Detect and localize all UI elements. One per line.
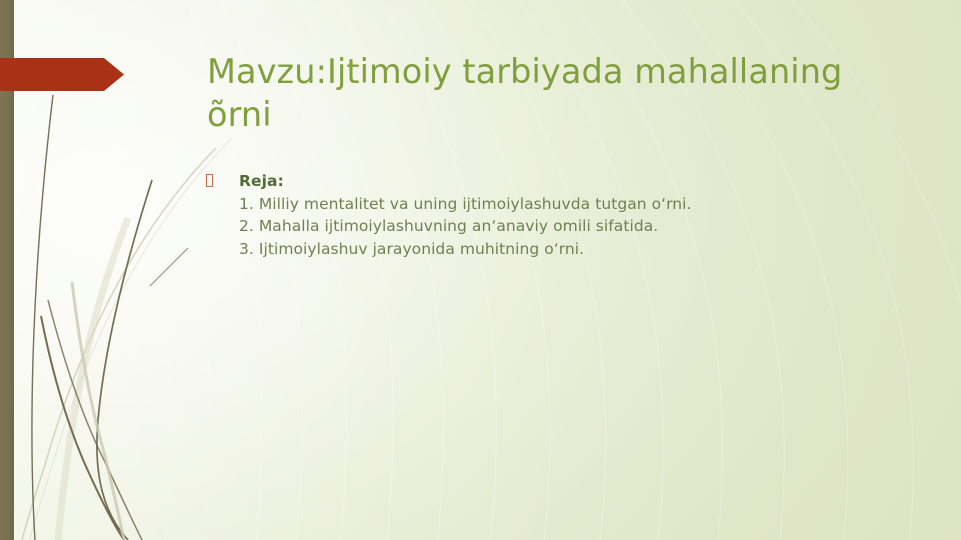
red-arrow-banner (0, 58, 125, 91)
tofu-box-icon (206, 174, 213, 187)
red-arrow-shape (0, 58, 125, 91)
bullet-content: Reja: 1. Milliy mentalitet va uning ijti… (239, 170, 865, 260)
slide-canvas: Mavzu:Ijtimoiy tarbiyada mahallaning õrn… (0, 0, 961, 540)
slide-body: Reja: 1. Milliy mentalitet va uning ijti… (205, 170, 865, 260)
reja-line-3: 3. Ijtimoiylashuv jarayonida muhitning o… (239, 238, 865, 261)
curve-pale-long (22, 148, 216, 540)
reja-line-2: 2. Mahalla ijtimoiylashuvning an‘anaviy … (239, 215, 865, 238)
reja-line-1: 1. Milliy mentalitet va uning ijtimoiyla… (239, 193, 865, 216)
curve-short-accent (150, 248, 188, 286)
curve-pale-stalk (72, 282, 124, 540)
reja-heading: Reja: (239, 170, 865, 193)
curve-pale-long-2 (30, 138, 232, 540)
missing-glyph-box-icon (205, 170, 239, 193)
page-title: Mavzu:Ijtimoiy tarbiyada mahallaning õrn… (207, 50, 907, 136)
curve-light-band (58, 218, 128, 540)
list-item: Reja: 1. Milliy mentalitet va uning ijti… (205, 170, 865, 260)
